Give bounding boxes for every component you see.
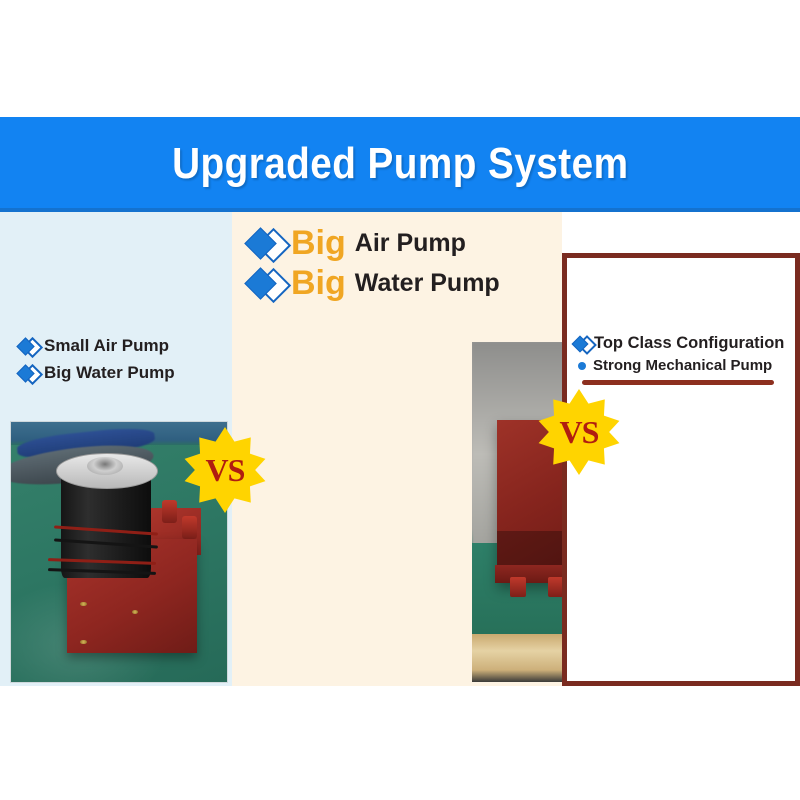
list-item: Big Water Pump: [247, 266, 552, 300]
pump-port: [162, 500, 177, 523]
diamond-bullet-icon: [18, 337, 40, 355]
vs-badge-right: VS: [536, 389, 622, 475]
list-item: Big Water Pump: [18, 363, 228, 383]
diamond-bullet-icon: [247, 227, 287, 260]
list-item: Small Air Pump: [18, 336, 228, 356]
vs-badge-left: VS: [182, 427, 268, 513]
list-item: Top Class Configuration: [573, 334, 795, 353]
title-banner: Upgraded Pump System: [0, 117, 800, 211]
screw: [132, 610, 138, 615]
feature-emphasis: Big: [291, 226, 346, 260]
pump-port: [182, 516, 197, 539]
top-config-feature-list: Top Class Configuration Strong Mechanica…: [573, 334, 795, 378]
feature-emphasis: Big: [291, 266, 346, 300]
pump-nozzle: [510, 577, 526, 597]
diamond-bullet-icon: [573, 335, 593, 352]
diamond-bullet-icon: [18, 364, 40, 382]
comparison-panels: Small Air Pump Big Water Pump: [0, 212, 800, 686]
feature-label: Big Water Pump: [44, 363, 175, 383]
feature-underline: [582, 380, 774, 385]
vs-label: VS: [206, 452, 245, 489]
list-item: Big Air Pump: [247, 226, 552, 260]
feature-label: Air Pump: [355, 231, 466, 256]
small-pump-feature-list: Small Air Pump Big Water Pump: [18, 336, 228, 390]
feature-label: Water Pump: [355, 271, 500, 296]
big-pump-panel: Big Air Pump Big Water Pump: [232, 212, 562, 686]
list-item: Strong Mechanical Pump: [573, 357, 795, 374]
feature-label: Top Class Configuration: [594, 334, 784, 353]
feature-label: Strong Mechanical Pump: [593, 357, 772, 374]
diamond-bullet-icon: [247, 267, 287, 300]
infographic-canvas: Upgraded Pump System Small Air Pump Big …: [0, 0, 800, 800]
feature-label: Small Air Pump: [44, 336, 169, 356]
big-pump-feature-list: Big Air Pump Big Water Pump: [247, 226, 552, 306]
page-title: Upgraded Pump System: [172, 139, 628, 189]
vs-label: VS: [560, 414, 599, 451]
screw: [80, 640, 86, 645]
screw: [80, 602, 86, 607]
dot-bullet-icon: [578, 362, 586, 370]
